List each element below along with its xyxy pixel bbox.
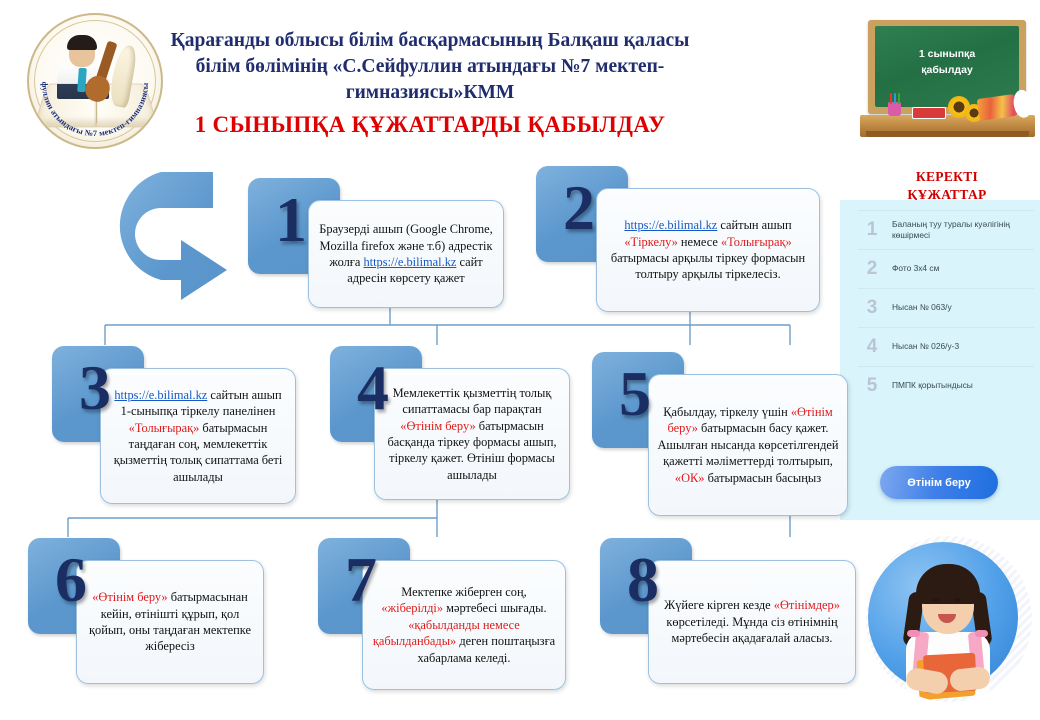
document-label: ПМПК қорытындысы	[892, 380, 973, 392]
step-2: https://e.bilimal.kz сайтын ашып «Тіркел…	[536, 166, 826, 318]
blackboard-line2: қабылдау	[875, 62, 1019, 78]
document-row: 4Нысан № 026/у-3	[858, 327, 1034, 366]
poster-root: «С.Сейфуллин атындағы №7 мектеп-гимназия…	[0, 0, 1040, 720]
step-8-number: 8	[608, 534, 678, 626]
step-8: Жүйеге кірген кезде «Өтінімдер» көрсетіл…	[600, 538, 862, 690]
step-text-fragment: Жүйеге кірген кезде	[664, 598, 774, 612]
blackboard-line1: 1 сыныпқа	[875, 46, 1019, 62]
step-text-fragment: мәртебесі шығады.	[443, 601, 547, 615]
pencil-cup-icon	[888, 102, 901, 116]
bilimal-link[interactable]: https://e.bilimal.kz	[624, 218, 717, 232]
document-number: 3	[864, 297, 880, 319]
hair-tie-right	[975, 630, 988, 637]
document-number: 5	[864, 375, 880, 397]
pencil-icon	[890, 93, 892, 104]
step-8-text: Жүйеге кірген кезде «Өтінімдер» көрсетіл…	[657, 597, 847, 646]
step-5-text: Қабылдау, тіркелу үшін «Өтінім беру» бат…	[657, 404, 839, 486]
pencil-icon	[894, 93, 896, 104]
step-text-fragment: Қабылдау, тіркелу үшін	[663, 405, 791, 419]
step-text-fragment: Мемлекеттік қызметтің толық сипаттамасы …	[393, 386, 552, 416]
step-2-number: 2	[544, 162, 614, 254]
highlighted-term: «Толығырақ»	[129, 421, 200, 435]
bilimal-link[interactable]: https://e.bilimal.kz	[363, 255, 456, 269]
step-4-number: 4	[338, 342, 408, 434]
step-1-card: Браузерді ашып (Google Chrome, Mozilla f…	[308, 200, 504, 308]
document-number: 1	[864, 219, 880, 241]
document-row: 5ПМПК қорытындысы	[858, 366, 1034, 405]
step-1-text: Браузерді ашып (Google Chrome, Mozilla f…	[317, 221, 495, 287]
step-7: Мектепке жіберген соң, «жіберілді» мәрте…	[318, 538, 572, 696]
required-documents-title-line1: КЕРЕКТІ	[862, 168, 1032, 186]
blackboard-desk	[860, 115, 1035, 137]
step-4-text: Мемлекеттік қызметтің толық сипаттамасы …	[383, 385, 561, 483]
step-text-fragment: Мектепке жіберген соң,	[401, 585, 526, 599]
document-row: 2Фото 3х4 см	[858, 249, 1034, 288]
document-label: Баланың туу туралы куәлігінің көшірмесі	[892, 219, 1034, 242]
step-5-number: 5	[600, 348, 670, 440]
step-7-number: 7	[326, 534, 396, 626]
step-1: Браузерді ашып (Google Chrome, Mozilla f…	[248, 178, 510, 314]
document-label: Нысан № 063/у	[892, 302, 952, 314]
step-2-text: https://e.bilimal.kz сайтын ашып «Тіркел…	[605, 217, 811, 283]
step-text-fragment: немесе	[678, 235, 721, 249]
step-6-text: «Өтінім беру» батырмасынан кейін, өтініш…	[85, 589, 255, 655]
blackboard-surface: 1 сыныпқа қабылдау	[875, 26, 1019, 107]
blackboard-text: 1 сыныпқа қабылдау	[875, 46, 1019, 78]
step-text-fragment: батырмасын басыңыз	[704, 471, 821, 485]
document-label: Фото 3х4 см	[892, 263, 939, 275]
step-6-number: 6	[36, 534, 106, 626]
student-eye-left	[932, 598, 939, 602]
step-6: «Өтінім беру» батырмасынан кейін, өтініш…	[28, 538, 270, 690]
emblem-arc-text: «С.Сейфуллин атындағы №7 мектеп-гимназия…	[29, 15, 161, 147]
required-documents-list: 1Баланың туу туралы куәлігінің көшірмесі…	[858, 210, 1034, 405]
red-book-icon	[912, 107, 946, 119]
document-row: 3Нысан № 063/у	[858, 288, 1034, 327]
step-8-card: Жүйеге кірген кезде «Өтінімдер» көрсетіл…	[648, 560, 856, 684]
blackboard-illustration: 1 сыныпқа қабылдау	[860, 18, 1035, 144]
svg-text:«С.Сейфуллин атындағы №7 мекте: «С.Сейфуллин атындағы №7 мектеп-гимназия…	[29, 15, 150, 138]
student-photo	[866, 536, 1032, 702]
highlighted-term: «Өтінімдер»	[774, 598, 840, 612]
step-5: Қабылдау, тіркелу үшін «Өтінім беру» бат…	[592, 352, 854, 522]
submit-application-button[interactable]: Өтінім беру	[880, 466, 998, 499]
page-subtitle: 1 СЫНЫПҚА ҚҰЖАТТАРДЫ ҚАБЫЛДАУ	[150, 112, 710, 138]
emblem-arc-label: «С.Сейфуллин атындағы №7 мектеп-гимназия…	[29, 15, 150, 138]
student-eye-right	[954, 598, 961, 602]
step-3-number: 3	[60, 342, 130, 434]
step-3-text: https://e.bilimal.kz сайтын ашып 1-сынып…	[109, 387, 287, 485]
step-4: Мемлекеттік қызметтің толық сипаттамасы …	[330, 346, 576, 506]
page-title: Қарағанды облысы білім басқармасының Бал…	[150, 28, 710, 106]
required-documents-title: КЕРЕКТІ ҚҰЖАТТАР	[862, 168, 1032, 204]
step-text-fragment: батырмасы арқылы тіркеу формасын толтыру…	[611, 251, 805, 281]
step-7-text: Мектепке жіберген соң, «жіберілді» мәрте…	[371, 584, 557, 666]
document-row: 1Баланың туу туралы куәлігінің көшірмесі	[858, 210, 1034, 249]
step-text-fragment: көрсетіледі. Мұнда сіз өтінімнің мәртебе…	[666, 615, 837, 645]
step-5-card: Қабылдау, тіркелу үшін «Өтінім беру» бат…	[648, 374, 848, 516]
step-1-number: 1	[256, 174, 326, 266]
document-number: 2	[864, 258, 880, 280]
step-2-card: https://e.bilimal.kz сайтын ашып «Тіркел…	[596, 188, 820, 312]
highlighted-term: «Өтінім беру»	[400, 419, 475, 433]
step-3: https://e.bilimal.kz сайтын ашып 1-сынып…	[52, 346, 302, 510]
school-emblem-logo: «С.Сейфуллин атындағы №7 мектеп-гимназия…	[27, 13, 163, 149]
document-number: 4	[864, 336, 880, 358]
highlighted-term: «ОК»	[675, 471, 705, 485]
document-label: Нысан № 026/у-3	[892, 341, 959, 353]
hair-tie-left	[907, 630, 920, 637]
pencil-icon	[898, 93, 900, 104]
step-text-fragment: сайтын ашып	[717, 218, 791, 232]
highlighted-term: «Тіркелу»	[624, 235, 678, 249]
highlighted-term: «Толығырақ»	[721, 235, 792, 249]
